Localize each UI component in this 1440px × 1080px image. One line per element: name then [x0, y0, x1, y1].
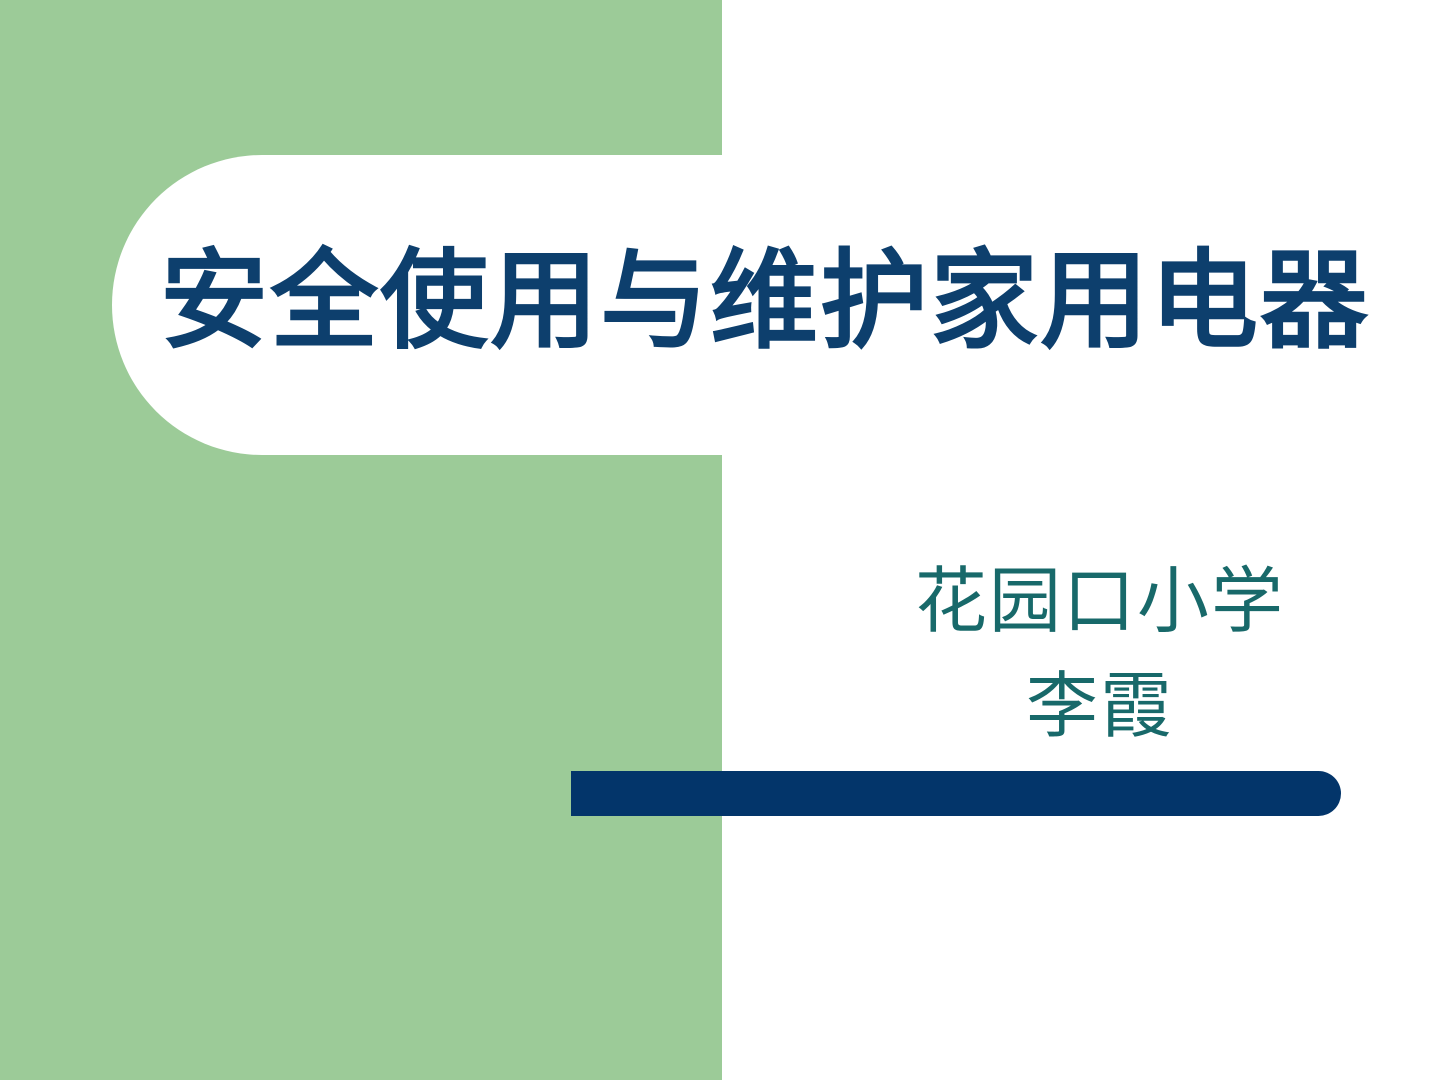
navy-accent-bar: [571, 771, 1341, 816]
slide-subtitle: 花园口小学 李霞: [840, 550, 1360, 760]
slide-title: 安全使用与维护家用电器: [160, 228, 1360, 378]
subtitle-author: 李霞: [840, 655, 1360, 760]
title-slide: 安全使用与维护家用电器 花园口小学 李霞: [0, 0, 1440, 1080]
subtitle-organization: 花园口小学: [840, 550, 1360, 655]
